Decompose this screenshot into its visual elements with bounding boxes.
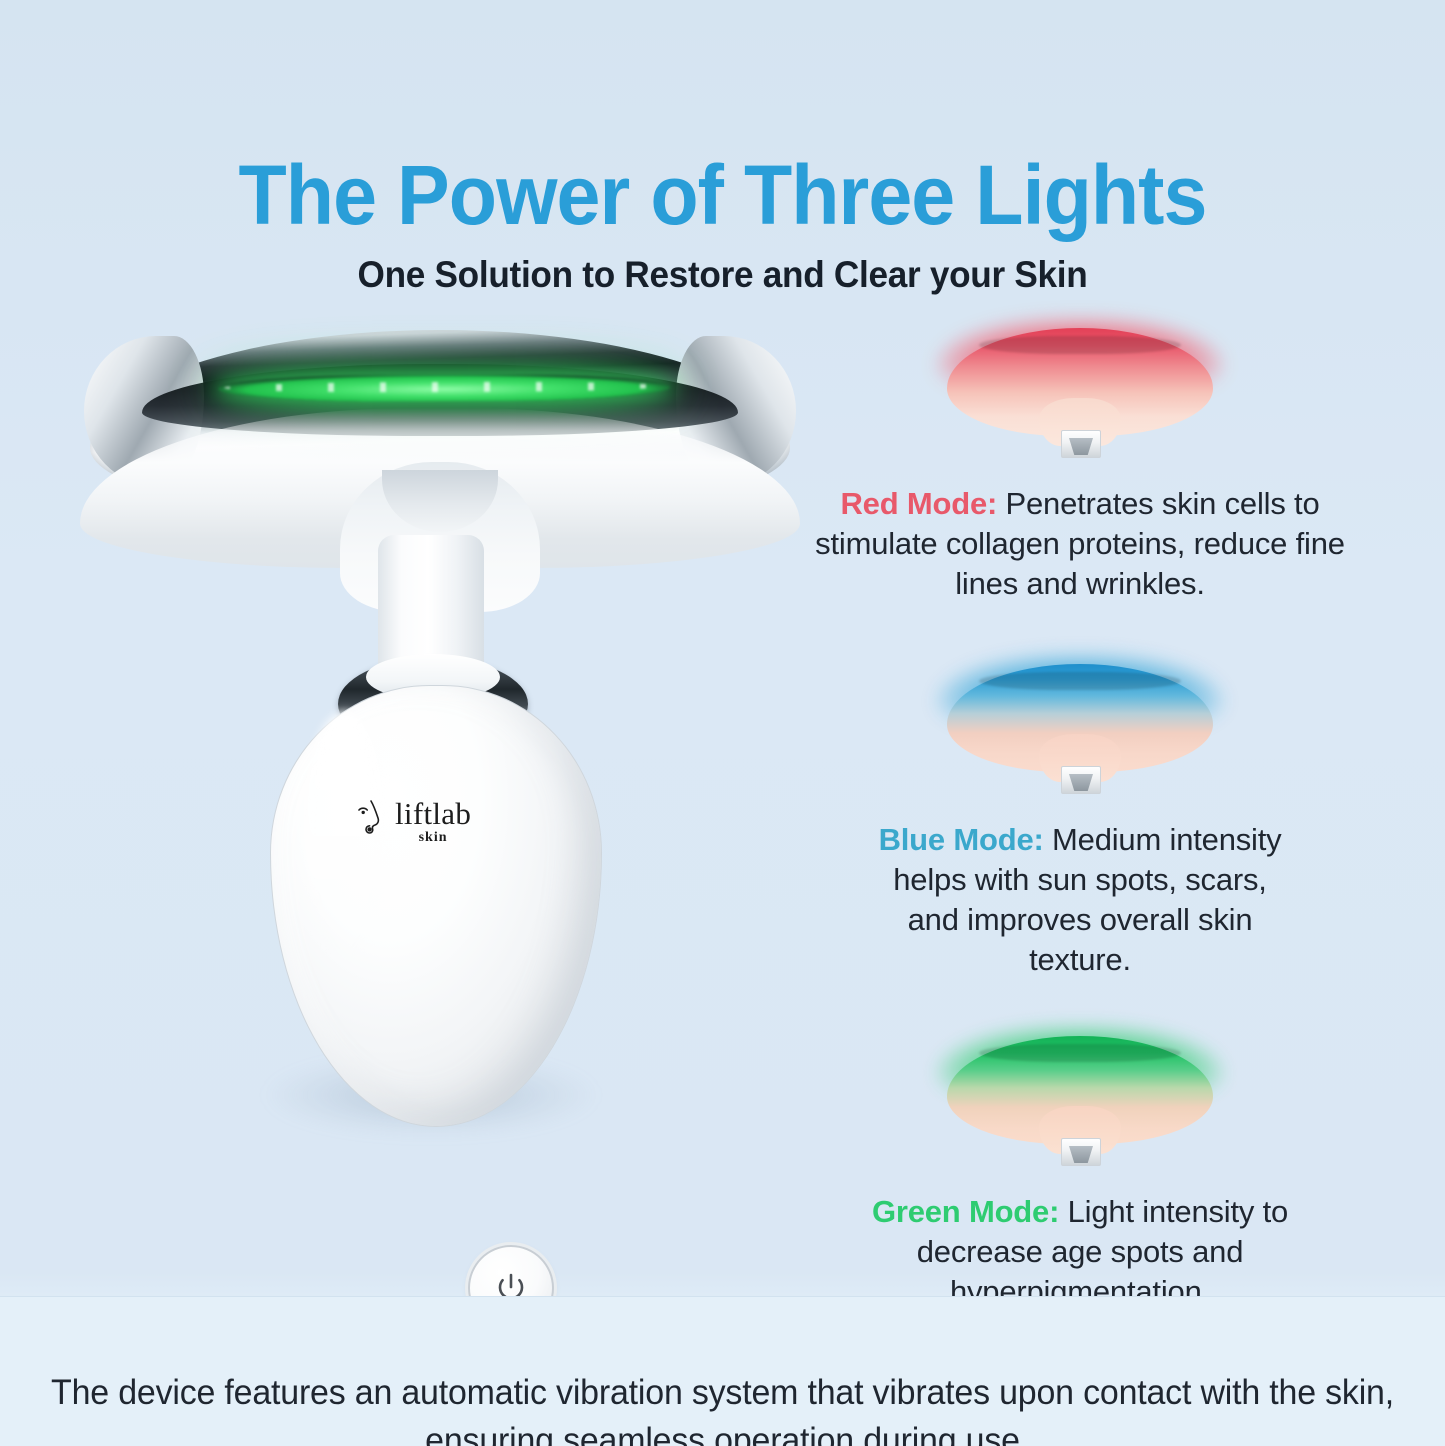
brand-tagline: skin: [419, 829, 448, 846]
mode-label-green: Green Mode:: [872, 1194, 1059, 1229]
mode-description-red: Red Mode: Penetrates skin cells to stimu…: [800, 484, 1360, 604]
modes-column: Red Mode: Penetrates skin cells to stimu…: [780, 320, 1380, 1290]
mode-block-blue: Blue Mode: Medium intensity helps with s…: [780, 656, 1380, 980]
brand-name: liftlab: [395, 798, 471, 829]
led-strip-green: [218, 374, 670, 402]
device-illustration: liftlab skin: [70, 320, 830, 1300]
mode-label-red: Red Mode:: [840, 486, 997, 521]
thumbnail-red: [935, 320, 1225, 470]
page-title: The Power of Three Lights: [43, 152, 1401, 238]
thumb-rim-blue: [979, 672, 1181, 690]
page-subtitle: One Solution to Restore and Clear your S…: [36, 253, 1409, 297]
footer-text: The device features an automatic vibrati…: [22, 1369, 1424, 1446]
thumb-rim-red: [979, 336, 1181, 354]
mode-description-green: Green Mode: Light intensity to decrease …: [845, 1192, 1315, 1312]
thumb-stem-red: [1061, 430, 1101, 458]
mode-label-blue: Blue Mode:: [879, 822, 1044, 857]
thumbnail-blue: [935, 656, 1225, 806]
thumb-stem-blue: [1061, 766, 1101, 794]
brand-logo-text: liftlab skin: [395, 798, 471, 846]
thumb-stem-green: [1061, 1138, 1101, 1166]
infographic-page: The Power of Three Lights One Solution t…: [0, 0, 1445, 1446]
device-head: [90, 330, 790, 560]
mode-description-blue: Blue Mode: Medium intensity helps with s…: [870, 820, 1290, 980]
face-profile-icon: [358, 800, 386, 846]
mode-block-green: Green Mode: Light intensity to decrease …: [780, 1028, 1380, 1312]
brand-logo: liftlab skin: [358, 798, 528, 860]
mode-block-red: Red Mode: Penetrates skin cells to stimu…: [780, 320, 1380, 604]
thumb-rim-green: [979, 1044, 1181, 1062]
thumbnail-green: [935, 1028, 1225, 1178]
